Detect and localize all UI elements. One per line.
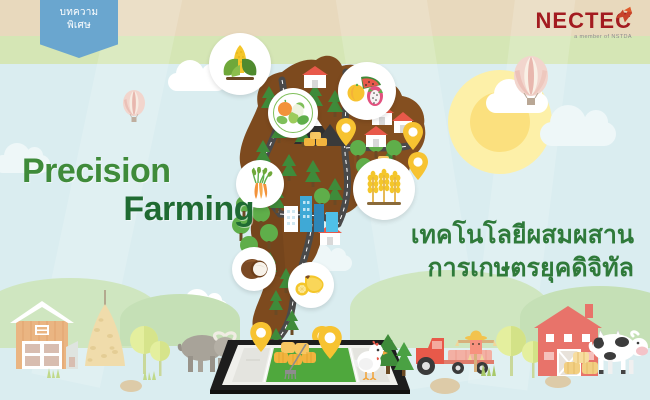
nectec-arrow-icon xyxy=(612,4,634,26)
nectec-tagline: a member of NSTDA xyxy=(536,34,632,40)
badge-ring xyxy=(293,267,329,303)
badge-coconut[interactable] xyxy=(232,247,276,291)
chicken-icon xyxy=(354,340,388,380)
nectec-logo[interactable]: NECTEC a member of NSTDA xyxy=(536,10,632,40)
badge-ring xyxy=(273,93,313,133)
map-pin-tablet-left[interactable] xyxy=(250,322,272,352)
page-title: Precision Farming xyxy=(22,152,282,228)
grass-tuft-icon xyxy=(478,362,498,376)
badge-ring xyxy=(358,163,410,215)
soil-pebble xyxy=(545,375,571,388)
soil-pebble xyxy=(120,380,142,392)
ribbon-text: บทความ พิเศษ xyxy=(40,6,118,32)
thai-subtitle-line-2: การเกษตรยุคดิจิทัล xyxy=(411,251,634,284)
badge-rice[interactable] xyxy=(353,158,415,220)
ribbon-line-1: บทความ xyxy=(40,6,118,19)
cow-icon xyxy=(588,326,650,376)
grass-tuft-icon xyxy=(140,368,158,380)
thai-subtitle-line-1: เทคโนโลยีผสมผสาน xyxy=(411,218,634,251)
ribbon-line-2: พิเศษ xyxy=(40,19,118,32)
haystack-icon xyxy=(82,290,128,370)
map-pin-tablet-right[interactable] xyxy=(318,326,342,359)
balloon-small-left-icon xyxy=(122,90,146,124)
headline-line-2: Farming xyxy=(22,190,282,228)
headline-line-1: Precision xyxy=(22,152,282,190)
thai-subtitle: เทคโนโลยีผสมผสาน การเกษตรยุคดิจิทัล xyxy=(411,218,634,284)
soil-pebble xyxy=(430,378,460,394)
badge-corn[interactable] xyxy=(209,33,271,95)
badge-banana[interactable] xyxy=(288,262,334,308)
map-pin-north[interactable] xyxy=(336,118,356,146)
balloon-right-icon xyxy=(512,56,550,108)
cloud-icon xyxy=(540,122,616,146)
badge-ring xyxy=(237,252,271,286)
map-pin-northeast[interactable] xyxy=(403,122,423,150)
badge-vegetables[interactable] xyxy=(268,88,318,138)
grass-tuft-icon xyxy=(44,366,62,378)
poster-canvas: บทความ พิเศษ NECTEC a member of NSTDA Pr… xyxy=(0,0,650,400)
barn-left-icon xyxy=(8,295,84,373)
badge-fruits[interactable] xyxy=(338,62,396,120)
badge-ring xyxy=(343,67,391,115)
badge-ring xyxy=(214,38,266,90)
rake-icon xyxy=(282,344,316,380)
